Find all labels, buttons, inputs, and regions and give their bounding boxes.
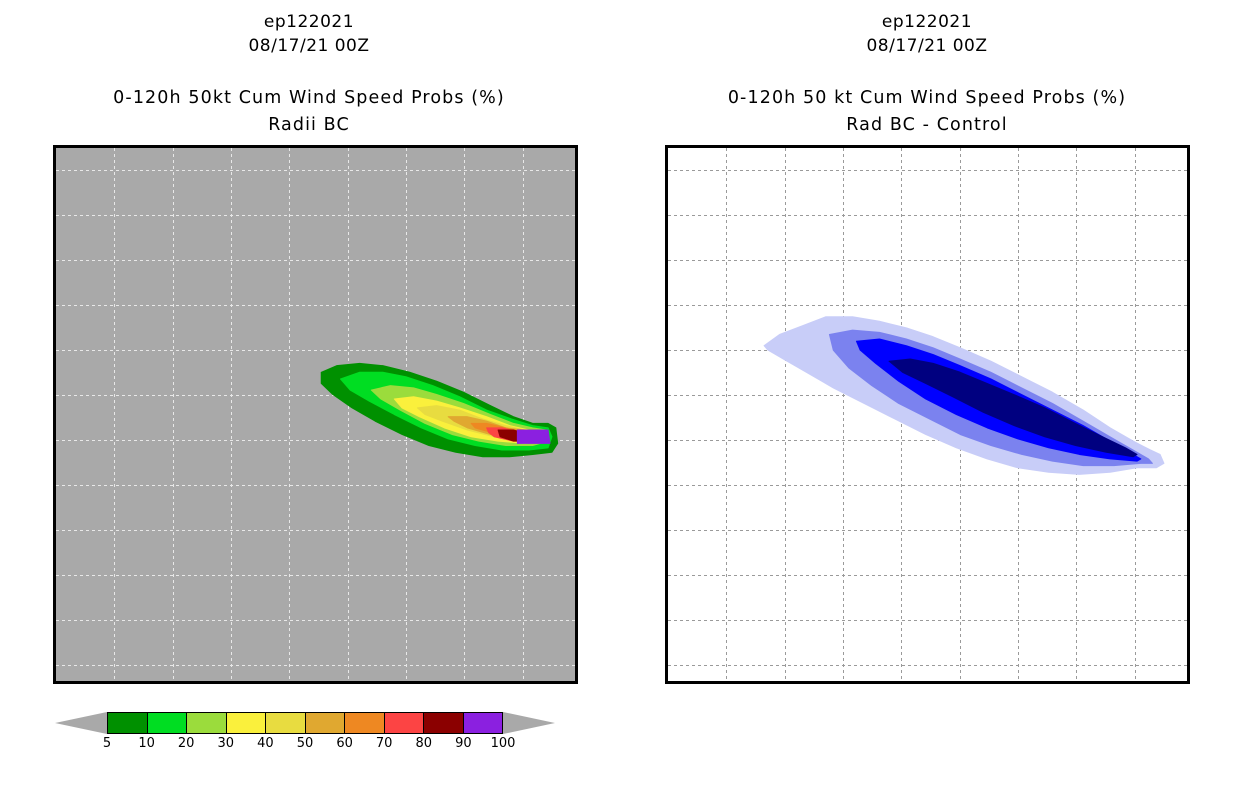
x-axis-tick [1018, 681, 1019, 684]
x-axis-tick [959, 681, 960, 684]
y-axis-tick [53, 305, 56, 306]
colorbar-tick-label: 20 [178, 736, 195, 751]
y-axis-tick [53, 215, 56, 216]
colorbar-tick-label: 50 [297, 736, 314, 751]
colorbar-swatch [226, 712, 267, 734]
y-axis-tick [665, 574, 668, 575]
colorbar-tick-label: 80 [416, 736, 433, 751]
y-axis-tick [53, 170, 56, 171]
y-axis-tick [53, 664, 56, 665]
y-axis-tick [665, 484, 668, 485]
x-axis-tick [901, 681, 902, 684]
figure-root: ep122021 08/17/21 00Z 0-120h 50kt Cum Wi… [0, 0, 1236, 800]
y-axis-tick [665, 215, 668, 216]
colorbar-swatch [305, 712, 346, 734]
x-axis-tick [231, 681, 232, 684]
y-axis-tick [53, 574, 56, 575]
colorbar-tick-label: 60 [336, 736, 353, 751]
y-axis-tick [53, 529, 56, 530]
colorbar-tick-label: 100 [491, 736, 516, 751]
panel-left-title-sub: Radii BC [0, 115, 618, 135]
colorbar-under-arrow [55, 712, 107, 734]
axis-labels-right: 150W147W144W141W138W135W132W129W126W123W… [668, 148, 1187, 681]
panel-right: ep122021 08/17/21 00Z 0-120h 50 kt Cum W… [618, 0, 1236, 800]
colorbar-tick-label: 40 [257, 736, 274, 751]
colorbar-tick-label: 30 [218, 736, 235, 751]
colorbar-swatch [344, 712, 385, 734]
map-plot-left[interactable]: 150W147W144W141W138W135W132W129W126W123W… [53, 145, 578, 684]
y-axis-tick [665, 350, 668, 351]
colorbar-left[interactable]: 5102030405060708090100 [55, 712, 555, 766]
colorbar-swatch [463, 712, 504, 734]
colorbar-left-labels: 5102030405060708090100 [55, 734, 555, 756]
colorbar-swatch [186, 712, 227, 734]
y-axis-tick [665, 260, 668, 261]
x-axis-tick [56, 681, 57, 684]
x-axis-tick [289, 681, 290, 684]
colorbar-tick-label: 90 [455, 736, 472, 751]
map-plot-right[interactable]: 150W147W144W141W138W135W132W129W126W123W… [665, 145, 1190, 684]
x-axis-tick [406, 681, 407, 684]
x-axis-tick [464, 681, 465, 684]
y-axis-tick [665, 529, 668, 530]
panel-right-title-main: 0-120h 50 kt Cum Wind Speed Probs (%) [618, 88, 1236, 108]
panel-left-title-main: 0-120h 50kt Cum Wind Speed Probs (%) [0, 88, 618, 108]
y-axis-tick [53, 350, 56, 351]
y-axis-tick [665, 305, 668, 306]
panel-left-datetime: 08/17/21 00Z [0, 36, 618, 56]
y-axis-tick [53, 619, 56, 620]
colorbar-swatch [265, 712, 306, 734]
x-axis-tick [784, 681, 785, 684]
x-axis-tick [843, 681, 844, 684]
panel-right-storm-id: ep122021 [618, 12, 1236, 32]
x-axis-tick [668, 681, 669, 684]
colorbar-tick-label: 70 [376, 736, 393, 751]
y-axis-tick [665, 664, 668, 665]
y-axis-tick [53, 484, 56, 485]
colorbar-left-swatches [55, 712, 555, 734]
y-axis-tick [665, 439, 668, 440]
panel-left: ep122021 08/17/21 00Z 0-120h 50kt Cum Wi… [0, 0, 618, 800]
colorbar-swatch [107, 712, 148, 734]
x-axis-tick [726, 681, 727, 684]
y-axis-tick [665, 170, 668, 171]
colorbar-tick-label: 5 [103, 736, 111, 751]
x-axis-tick [172, 681, 173, 684]
y-axis-tick [53, 395, 56, 396]
colorbar-swatch [423, 712, 464, 734]
x-axis-tick [1134, 681, 1135, 684]
x-axis-tick [522, 681, 523, 684]
panel-right-title-sub: Rad BC - Control [618, 115, 1236, 135]
panel-left-storm-id: ep122021 [0, 12, 618, 32]
y-axis-tick [665, 619, 668, 620]
axis-labels-left: 150W147W144W141W138W135W132W129W126W123W… [56, 148, 575, 681]
x-axis-tick [347, 681, 348, 684]
colorbar-tick-label: 10 [138, 736, 155, 751]
y-axis-tick [53, 260, 56, 261]
colorbar-swatch [384, 712, 425, 734]
x-axis-tick [1076, 681, 1077, 684]
panel-right-datetime: 08/17/21 00Z [618, 36, 1236, 56]
y-axis-tick [53, 439, 56, 440]
colorbar-swatch [147, 712, 188, 734]
colorbar-over-arrow [503, 712, 555, 734]
y-axis-tick [665, 395, 668, 396]
x-axis-tick [114, 681, 115, 684]
